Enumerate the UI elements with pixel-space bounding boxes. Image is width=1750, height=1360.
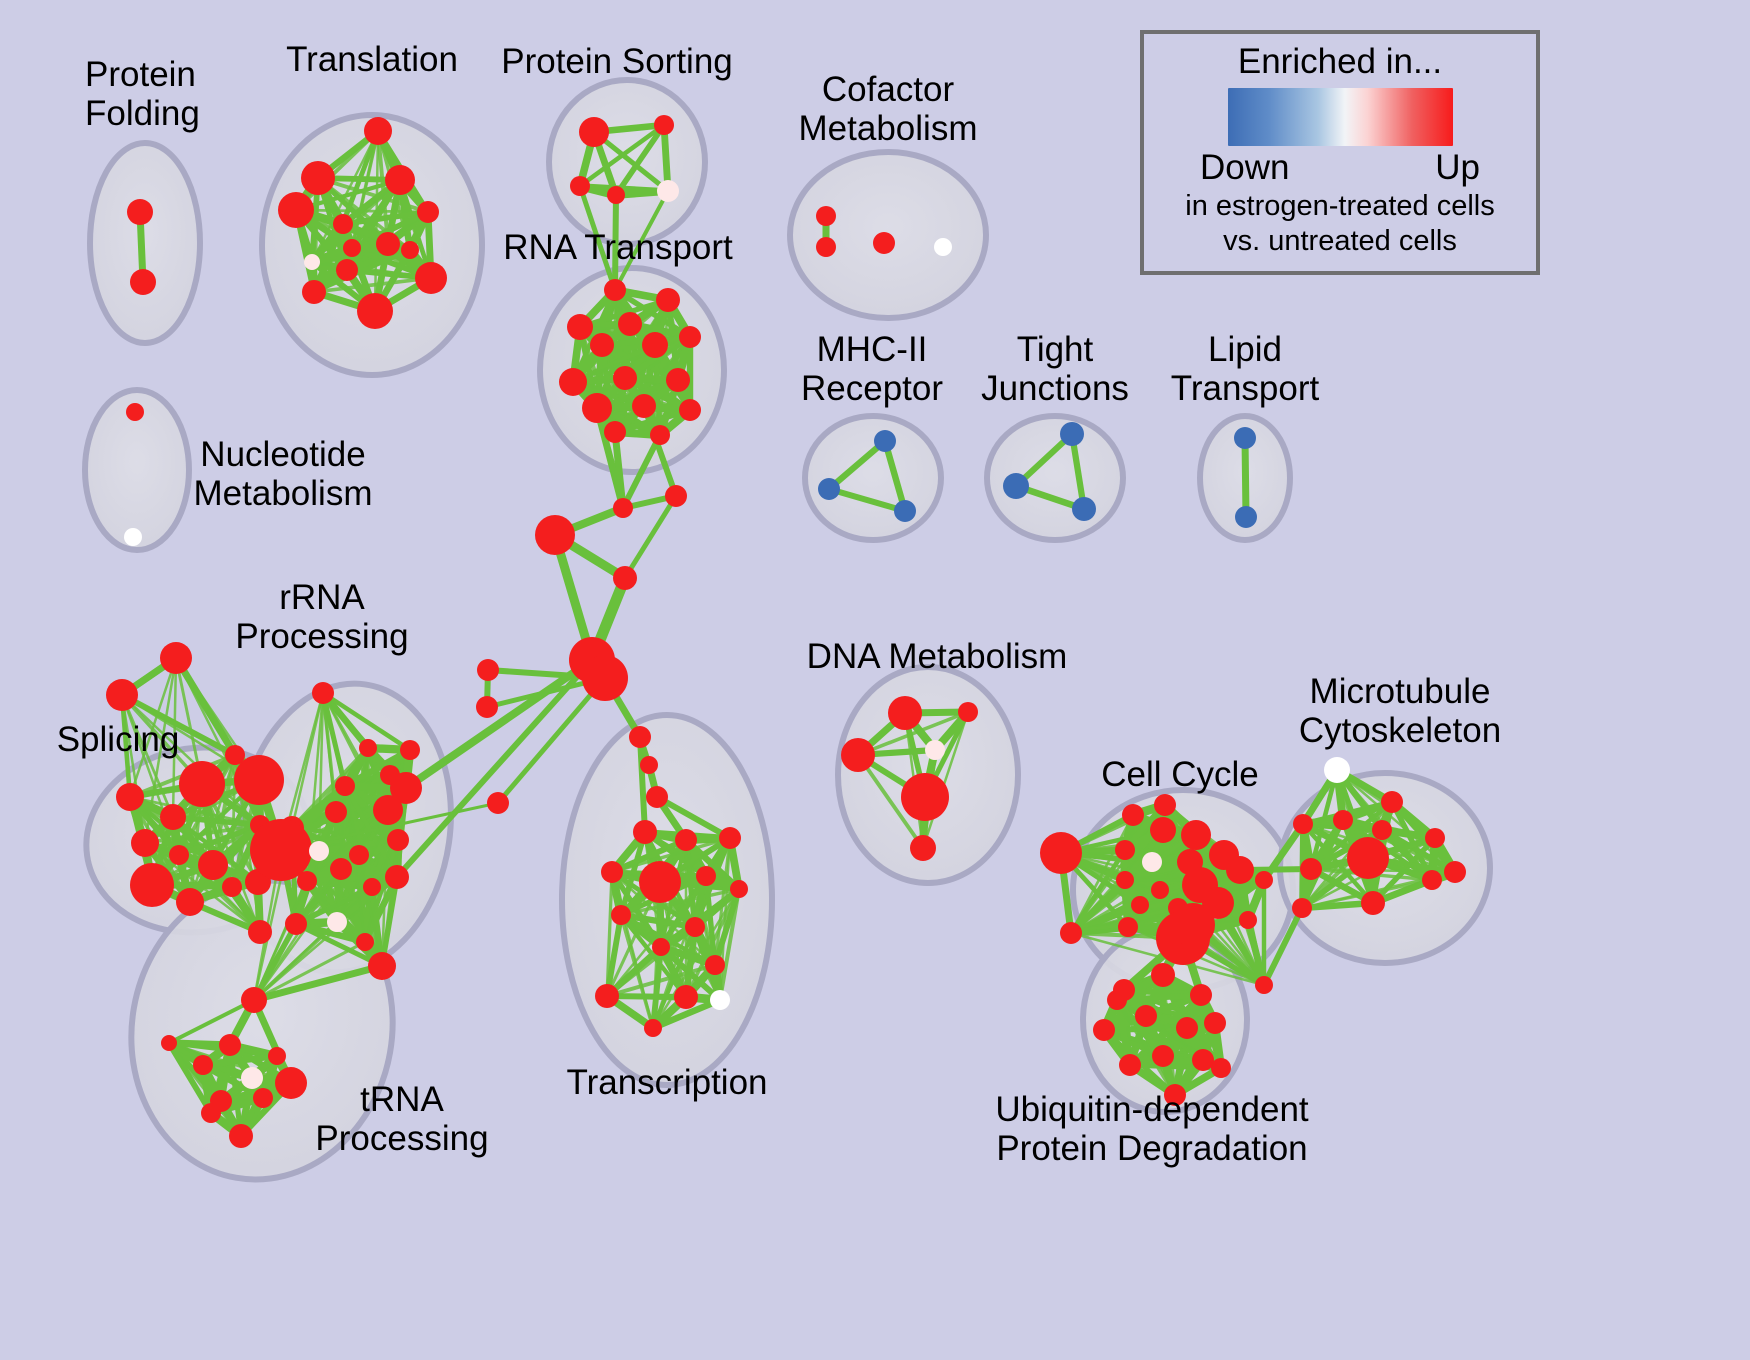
network-node[interactable] (106, 679, 138, 711)
network-node[interactable] (652, 938, 670, 956)
network-node[interactable] (253, 1088, 273, 1108)
network-node[interactable] (1151, 963, 1175, 987)
network-node[interactable] (1444, 861, 1466, 883)
cluster-label-lipid-transport: Lipid Transport (1171, 330, 1319, 408)
network-node[interactable] (1150, 817, 1176, 843)
network-node[interactable] (297, 871, 317, 891)
network-node[interactable] (1300, 858, 1322, 880)
cluster-label-cell-cycle: Cell Cycle (1101, 755, 1259, 794)
network-node[interactable] (131, 829, 159, 857)
network-node[interactable] (385, 165, 415, 195)
legend-title: Enriched in... (1238, 42, 1442, 82)
network-node[interactable] (696, 866, 716, 886)
cluster-label-nucleotide-metabolism: Nucleotide Metabolism (194, 435, 373, 513)
network-node[interactable] (325, 801, 347, 823)
network-node[interactable] (130, 863, 174, 907)
network-node[interactable] (710, 990, 730, 1010)
network-node[interactable] (604, 279, 626, 301)
network-node[interactable] (1131, 896, 1149, 914)
network-node[interactable] (387, 829, 409, 851)
network-node[interactable] (116, 783, 144, 811)
network-node[interactable] (335, 776, 355, 796)
network-node[interactable] (363, 878, 381, 896)
network-node[interactable] (127, 199, 153, 225)
network-node[interactable] (613, 566, 637, 590)
network-node[interactable] (126, 403, 144, 421)
network-node[interactable] (1211, 1058, 1231, 1078)
network-node[interactable] (894, 500, 916, 522)
network-node[interactable] (268, 1047, 286, 1065)
network-node[interactable] (1151, 881, 1169, 899)
network-node[interactable] (1381, 791, 1403, 813)
legend-down-label: Down (1200, 148, 1289, 188)
network-node[interactable] (385, 865, 409, 889)
network-node[interactable] (241, 1067, 263, 1089)
network-node[interactable] (477, 659, 499, 681)
network-node[interactable] (1122, 804, 1144, 826)
network-node[interactable] (176, 888, 204, 916)
network-node[interactable] (1292, 898, 1312, 918)
cluster-label-rrna-processing: rRNA Processing (235, 578, 408, 656)
network-node[interactable] (327, 912, 347, 932)
cluster-label-cofactor-metabolism: Cofactor Metabolism (799, 70, 978, 148)
cluster-label-microtubule-cytoskeleton: Microtubule Cytoskeleton (1299, 672, 1501, 750)
network-node[interactable] (1372, 820, 1392, 840)
network-node[interactable] (1060, 922, 1082, 944)
network-node[interactable] (250, 819, 312, 881)
network-node[interactable] (604, 421, 626, 443)
network-node[interactable] (1118, 917, 1138, 937)
network-node[interactable] (1425, 828, 1445, 848)
network-node[interactable] (400, 740, 420, 760)
network-node[interactable] (640, 756, 658, 774)
network-node[interactable] (818, 478, 840, 500)
network-node[interactable] (559, 368, 587, 396)
network-node[interactable] (1204, 1012, 1226, 1034)
network-node[interactable] (476, 696, 498, 718)
cluster-label-rna-transport: RNA Transport (503, 228, 733, 267)
network-node[interactable] (607, 186, 625, 204)
network-node[interactable] (1190, 984, 1212, 1006)
network-node[interactable] (417, 201, 439, 223)
network-node[interactable] (130, 269, 156, 295)
network-node[interactable] (595, 984, 619, 1008)
network-node[interactable] (679, 399, 701, 421)
network-node[interactable] (487, 792, 509, 814)
network-node[interactable] (1226, 856, 1254, 884)
network-node[interactable] (685, 917, 705, 937)
network-node[interactable] (675, 829, 697, 851)
network-node[interactable] (312, 682, 334, 704)
network-node[interactable] (650, 425, 670, 445)
network-node[interactable] (841, 738, 875, 772)
network-node[interactable] (719, 827, 741, 849)
legend-caption-line2: vs. untreated cells (1223, 225, 1457, 258)
color-gradient-bar (1228, 88, 1453, 146)
cluster-label-trna-processing: tRNA Processing (315, 1080, 488, 1158)
network-node[interactable] (665, 485, 687, 507)
network-node[interactable] (304, 254, 320, 270)
network-node[interactable] (611, 905, 631, 925)
network-node[interactable] (278, 192, 314, 228)
network-node[interactable] (1040, 832, 1082, 874)
network-node[interactable] (160, 804, 186, 830)
cluster-hull (805, 416, 941, 540)
network-node[interactable] (901, 773, 949, 821)
network-node[interactable] (567, 314, 593, 340)
network-node[interactable] (656, 288, 680, 312)
network-node[interactable] (336, 259, 358, 281)
network-node[interactable] (333, 214, 353, 234)
network-node[interactable] (248, 920, 272, 944)
network-node[interactable] (1119, 1054, 1141, 1076)
network-node[interactable] (1181, 820, 1211, 850)
network-node[interactable] (613, 366, 637, 390)
network-node[interactable] (330, 858, 352, 880)
network-node[interactable] (1152, 1045, 1174, 1067)
network-node[interactable] (1171, 903, 1215, 947)
network-node[interactable] (1235, 506, 1257, 528)
network-node[interactable] (359, 739, 377, 757)
network-node[interactable] (570, 176, 590, 196)
network-node[interactable] (705, 955, 725, 975)
cluster-label-protein-sorting: Protein Sorting (501, 42, 733, 81)
network-node[interactable] (1361, 891, 1385, 915)
network-node[interactable] (302, 280, 326, 304)
network-node[interactable] (910, 835, 936, 861)
network-node[interactable] (618, 312, 642, 336)
network-node[interactable] (1060, 422, 1084, 446)
cluster-label-ubiquitin-protein-degradation: Ubiquitin-dependent Protein Degradation (995, 1090, 1308, 1168)
network-node[interactable] (646, 786, 668, 808)
network-node[interactable] (674, 985, 698, 1009)
network-node[interactable] (1333, 810, 1353, 830)
network-node[interactable] (633, 820, 657, 844)
network-node[interactable] (657, 180, 679, 202)
network-node[interactable] (169, 845, 189, 865)
network-node[interactable] (357, 293, 393, 329)
network-node[interactable] (874, 430, 896, 452)
network-node[interactable] (601, 861, 623, 883)
network-node[interactable] (1154, 794, 1176, 816)
network-node[interactable] (349, 845, 369, 865)
network-node[interactable] (390, 772, 422, 804)
network-node[interactable] (654, 115, 674, 135)
network-node[interactable] (275, 1067, 307, 1099)
network-node[interactable] (888, 696, 922, 730)
network-node[interactable] (730, 880, 748, 898)
network-node[interactable] (1234, 427, 1256, 449)
network-node[interactable] (1116, 871, 1134, 889)
network-node[interactable] (309, 841, 329, 861)
network-node[interactable] (201, 1103, 221, 1123)
network-node[interactable] (1347, 837, 1389, 879)
network-node[interactable] (1107, 990, 1127, 1010)
network-node[interactable] (364, 117, 392, 145)
network-node[interactable] (642, 332, 668, 358)
network-node[interactable] (241, 987, 267, 1013)
network-edge (1245, 438, 1246, 517)
network-node[interactable] (816, 206, 836, 226)
network-node[interactable] (1003, 473, 1029, 499)
network-node[interactable] (1293, 814, 1313, 834)
network-node[interactable] (679, 326, 701, 348)
network-node[interactable] (1192, 1049, 1214, 1071)
legend-caption-line1: in estrogen-treated cells (1185, 190, 1495, 223)
network-figure: Protein FoldingTranslationProtein Sortin… (0, 0, 1750, 1360)
network-node[interactable] (590, 333, 614, 357)
cluster-label-splicing: Splicing (57, 720, 180, 759)
cluster-label-translation: Translation (286, 40, 458, 79)
network-node[interactable] (639, 861, 681, 903)
network-node[interactable] (160, 642, 192, 674)
legend-box: Enriched in... Down Up in estrogen-treat… (1140, 30, 1540, 275)
cluster-label-protein-folding: Protein Folding (85, 55, 200, 133)
network-node[interactable] (1324, 757, 1350, 783)
cluster-label-transcription: Transcription (567, 1063, 768, 1102)
network-node[interactable] (1072, 497, 1096, 521)
network-node[interactable] (198, 850, 228, 880)
network-node[interactable] (376, 232, 400, 256)
network-node[interactable] (415, 262, 447, 294)
network-node[interactable] (401, 241, 419, 259)
network-node[interactable] (1176, 1017, 1198, 1039)
cluster-hull (90, 143, 200, 343)
network-node[interactable] (368, 952, 396, 980)
network-node[interactable] (644, 1019, 662, 1037)
network-node[interactable] (1142, 852, 1162, 872)
network-node[interactable] (1093, 1019, 1115, 1041)
network-node[interactable] (1255, 976, 1273, 994)
network-node[interactable] (535, 515, 575, 555)
network-node[interactable] (285, 913, 307, 935)
network-node[interactable] (582, 655, 628, 701)
network-node[interactable] (222, 877, 242, 897)
network-node[interactable] (582, 393, 612, 423)
network-node[interactable] (356, 933, 374, 951)
network-node[interactable] (934, 238, 952, 256)
network-node[interactable] (179, 761, 225, 807)
cluster-label-tight-junctions: Tight Junctions (981, 330, 1129, 408)
legend-endpoints: Down Up (1200, 148, 1480, 188)
network-node[interactable] (301, 161, 335, 195)
network-node[interactable] (234, 755, 284, 805)
network-node[interactable] (1115, 840, 1135, 860)
network-node[interactable] (873, 232, 895, 254)
network-node[interactable] (632, 394, 656, 418)
network-node[interactable] (666, 368, 690, 392)
network-node[interactable] (613, 498, 633, 518)
network-node[interactable] (229, 1124, 253, 1148)
network-node[interactable] (124, 528, 142, 546)
network-node[interactable] (958, 702, 978, 722)
network-node[interactable] (1255, 871, 1273, 889)
network-node[interactable] (579, 117, 609, 147)
cluster-label-mhc-ii-receptor: MHC-II Receptor (801, 330, 943, 408)
network-node[interactable] (219, 1034, 241, 1056)
network-node[interactable] (1135, 1005, 1157, 1027)
network-node[interactable] (343, 239, 361, 257)
network-node[interactable] (629, 726, 651, 748)
network-node[interactable] (925, 740, 945, 760)
network-node[interactable] (193, 1055, 213, 1075)
cluster-label-dna-metabolism: DNA Metabolism (807, 637, 1068, 676)
cluster-hull (549, 80, 705, 244)
network-node[interactable] (816, 237, 836, 257)
network-node[interactable] (161, 1035, 177, 1051)
legend-up-label: Up (1435, 148, 1480, 188)
network-node[interactable] (1239, 911, 1257, 929)
network-node[interactable] (1422, 870, 1442, 890)
